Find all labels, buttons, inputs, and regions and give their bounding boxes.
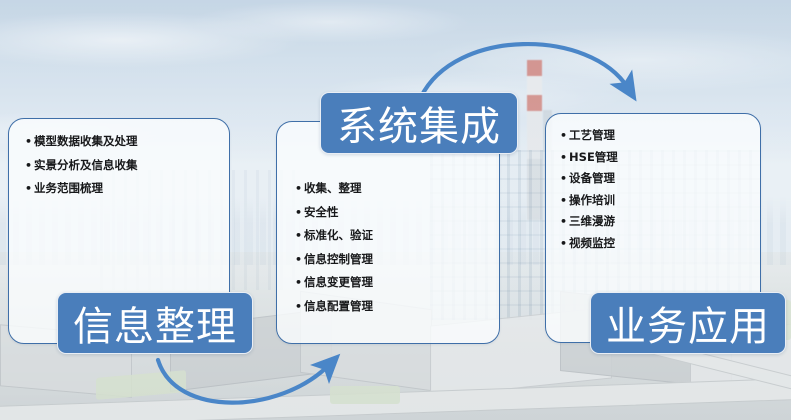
panel-system-integration[interactable]: 收集、整理 安全性 标准化、验证 信息控制管理 信息变更管理 信息配置管理 (276, 121, 500, 344)
list-item: 安全性 (295, 207, 499, 219)
list-item: 视频监控 (560, 238, 760, 250)
list-item: 模型数据收集及处理 (25, 136, 229, 148)
list-item: 收集、整理 (295, 183, 499, 195)
list-information-organization: 模型数据收集及处理 实景分析及信息收集 业务范围梳理 (9, 119, 229, 195)
stage-title-business-application[interactable]: 业务应用 (590, 292, 786, 354)
list-item: 实景分析及信息收集 (25, 160, 229, 172)
list-item: 业务范围梳理 (25, 183, 229, 195)
list-item: HSE管理 (560, 152, 760, 164)
slide-canvas: 模型数据收集及处理 实景分析及信息收集 业务范围梳理 收集、整理 安全性 标准化… (0, 0, 791, 420)
list-item: 信息配置管理 (295, 301, 499, 313)
list-item: 信息控制管理 (295, 254, 499, 266)
list-item: 信息变更管理 (295, 277, 499, 289)
list-item: 设备管理 (560, 173, 760, 185)
list-item: 操作培训 (560, 195, 760, 207)
list-item: 三维漫游 (560, 216, 760, 228)
list-business-application: 工艺管理 HSE管理 设备管理 操作培训 三维漫游 视频监控 (546, 114, 760, 249)
stage-title-information-organization[interactable]: 信息整理 (57, 292, 253, 354)
list-item: 标准化、验证 (295, 230, 499, 242)
stage-title-system-integration[interactable]: 系统集成 (320, 92, 518, 154)
list-item: 工艺管理 (560, 130, 760, 142)
